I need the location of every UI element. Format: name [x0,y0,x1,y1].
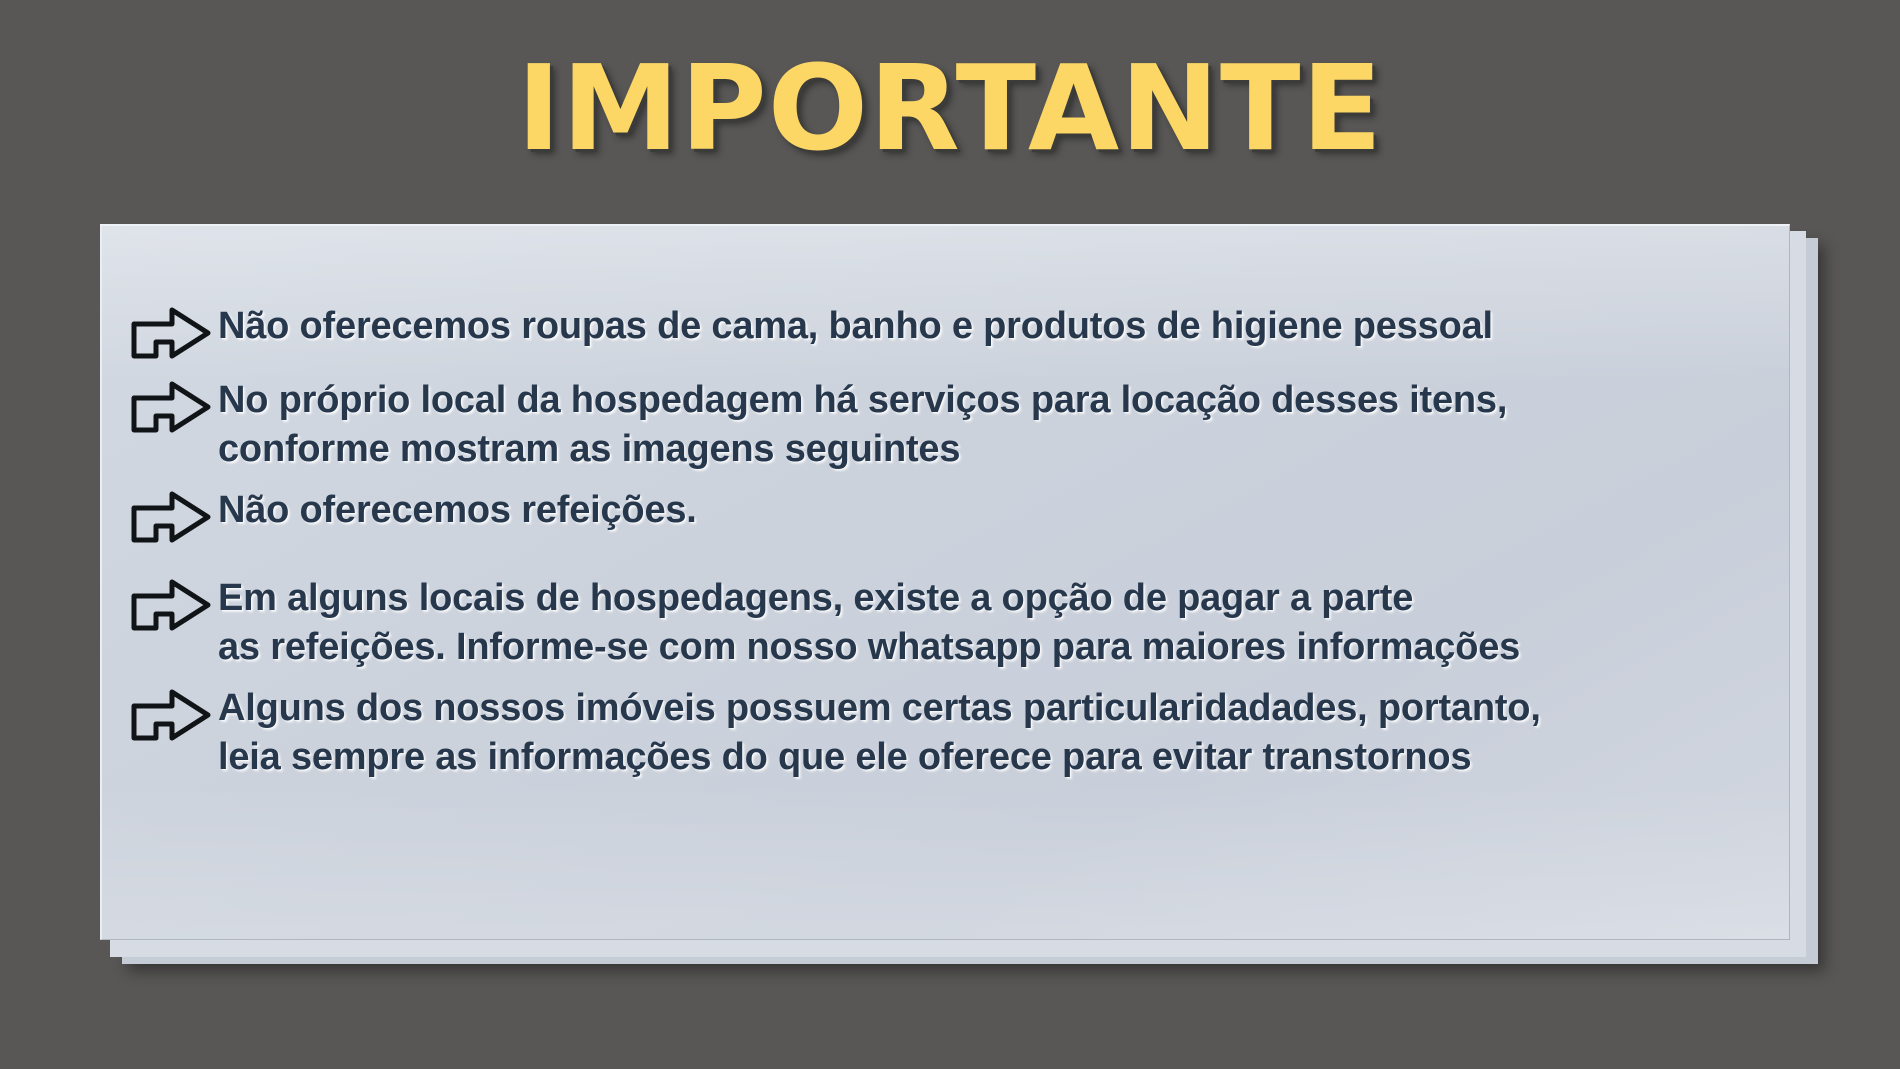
title-container: IMPORTANTE [0,48,1900,168]
list-item: No próprio local da hospedagem há serviç… [128,374,1768,474]
list-item-label: Não oferecemos refeições. [218,484,697,535]
list-item: Alguns dos nossos imóveis possuem certas… [128,682,1768,782]
content-panel: Não oferecemos roupas de cama, banho e p… [100,224,1790,940]
block-arrow-right-icon [128,684,214,746]
list-item: Não oferecemos refeições. [128,484,1768,548]
block-arrow-right-icon [128,376,214,438]
content-panel-stack: Não oferecemos roupas de cama, banho e p… [100,224,1818,964]
block-arrow-right-icon [128,302,214,364]
list-item-label: Não oferecemos roupas de cama, banho e p… [218,300,1493,351]
list-item: Não oferecemos roupas de cama, banho e p… [128,300,1768,364]
list-item-label: No próprio local da hospedagem há serviç… [218,374,1507,474]
slide-root: IMPORTANTE Não oferecemos roupas de cama… [0,0,1900,1069]
list-item: Em alguns locais de hospedagens, existe … [128,572,1768,672]
bullet-list: Não oferecemos roupas de cama, banho e p… [128,300,1768,798]
block-arrow-right-icon [128,574,214,636]
block-arrow-right-icon [128,486,214,548]
page-title: IMPORTANTE [517,48,1383,168]
list-item-label: Alguns dos nossos imóveis possuem certas… [218,682,1541,782]
list-item-label: Em alguns locais de hospedagens, existe … [218,572,1520,672]
